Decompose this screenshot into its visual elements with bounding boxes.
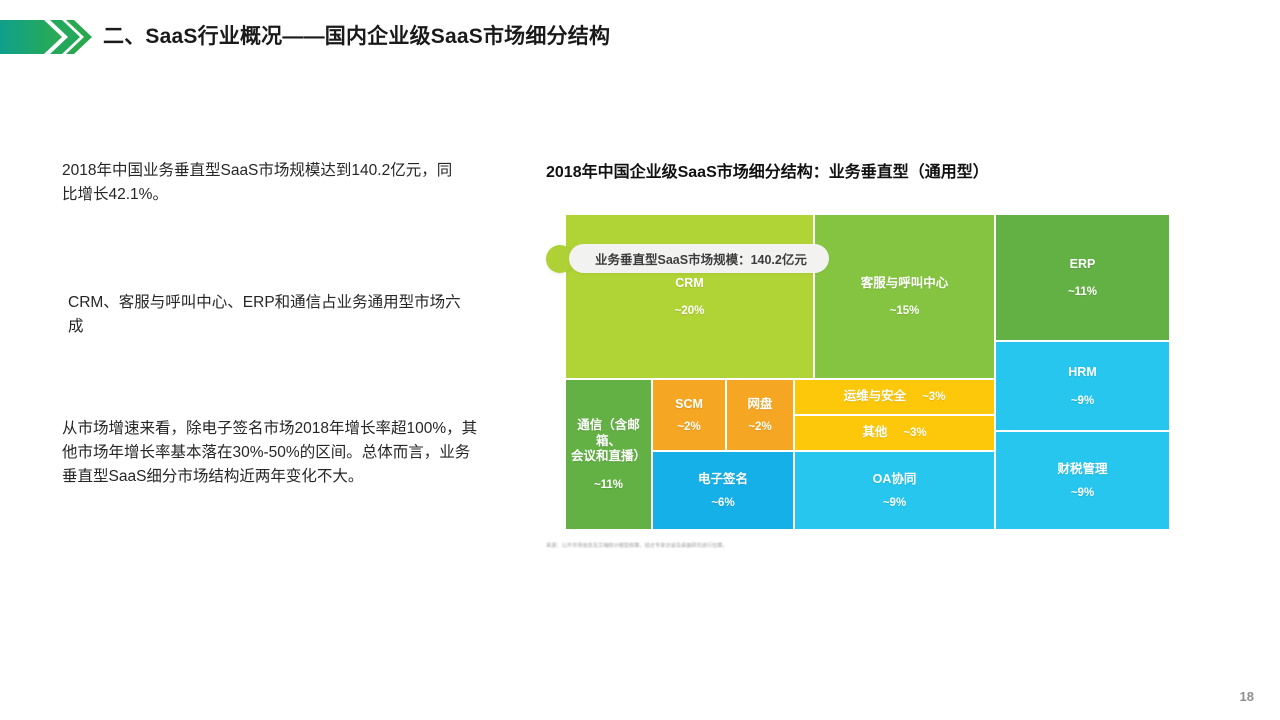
cell-value: ~9%: [1071, 487, 1094, 499]
cell-label: 电子签名: [698, 472, 748, 488]
cell-value: ~9%: [883, 497, 906, 509]
cell-value: ~6%: [711, 497, 734, 509]
cell-value: ~3%: [922, 391, 945, 403]
treemap-cell-crm[interactable]: CRM ~20%: [565, 214, 814, 379]
cell-value: ~2%: [748, 421, 771, 433]
cell-label: 运维与安全: [844, 389, 907, 405]
treemap-cell-scm[interactable]: SCM ~2%: [652, 379, 726, 451]
treemap-cell-e-signature[interactable]: 电子签名 ~6%: [652, 451, 794, 530]
treemap-cell-others[interactable]: 其他 ~3%: [794, 415, 995, 451]
callout-text: 业务垂直型SaaS市场规模：140.2亿元: [595, 249, 807, 268]
cell-label: CRM: [675, 276, 703, 292]
cell-label: HRM: [1068, 365, 1096, 381]
cell-label: OA协同: [873, 472, 917, 488]
cell-label: SCM: [675, 397, 703, 413]
cell-value: ~15%: [890, 305, 920, 317]
treemap-cell-erp[interactable]: ERP ~11%: [995, 214, 1170, 341]
cell-label: 通信（含邮箱、 会议和直播）: [566, 418, 651, 465]
cell-label: 客服与呼叫中心: [861, 276, 949, 292]
cell-value: ~11%: [1068, 286, 1097, 298]
paragraph-market-size: 2018年中国业务垂直型SaaS市场规模达到140.2亿元，同比增长42.1%。: [62, 159, 454, 207]
page-number: 18: [1240, 689, 1254, 704]
cell-value: ~9%: [1071, 395, 1094, 407]
slide-header: 二、SaaS行业概况——国内企业级SaaS市场细分结构: [0, 0, 1280, 72]
callout-market-size: 业务垂直型SaaS市场规模：140.2亿元: [569, 244, 829, 273]
cell-label: ERP: [1070, 257, 1096, 273]
treemap-cell-communication[interactable]: 通信（含邮箱、 会议和直播） ~11%: [565, 379, 652, 530]
chart-panel: 2018年中国企业级SaaS市场细分结构：业务垂直型（通用型） CRM ~20%…: [546, 158, 1186, 570]
chart-footnote: 来源：公开市场信息及艾瑞统计模型核算，结合专家访谈及桌面研究进行估算。: [546, 542, 1166, 549]
cell-value: ~3%: [903, 427, 926, 439]
paragraph-segment-share: CRM、客服与呼叫中心、ERP和通信占业务通用型市场六成: [68, 291, 468, 339]
cell-value: ~20%: [675, 305, 705, 317]
treemap-cell-hrm[interactable]: HRM ~9%: [995, 341, 1170, 431]
treemap-cell-customer-service[interactable]: 客服与呼叫中心 ~15%: [814, 214, 995, 379]
cell-label: 财税管理: [1057, 462, 1107, 478]
logo-chevron-icon: [0, 18, 92, 56]
cell-label: 网盘: [747, 397, 772, 413]
cell-label: 其他: [862, 425, 887, 441]
chart-title: 2018年中国企业级SaaS市场细分结构：业务垂直型（通用型）: [546, 158, 989, 182]
treemap-cell-oa-collaboration[interactable]: OA协同 ~9%: [794, 451, 995, 530]
treemap-chart: CRM ~20% 客服与呼叫中心 ~15% ERP ~11% HRM ~9% 通…: [546, 209, 1186, 543]
treemap-cell-cloud-disk[interactable]: 网盘 ~2%: [726, 379, 794, 451]
cell-value: ~2%: [677, 421, 700, 433]
cell-value: ~11%: [594, 479, 623, 491]
page-title: 二、SaaS行业概况——国内企业级SaaS市场细分结构: [103, 20, 610, 50]
treemap-cell-ops-security[interactable]: 运维与安全 ~3%: [794, 379, 995, 415]
paragraph-growth-rate: 从市场增速来看，除电子签名市场2018年增长率超100%，其他市场年增长率基本落…: [62, 417, 480, 489]
treemap-cell-finance-tax[interactable]: 财税管理 ~9%: [995, 431, 1170, 530]
